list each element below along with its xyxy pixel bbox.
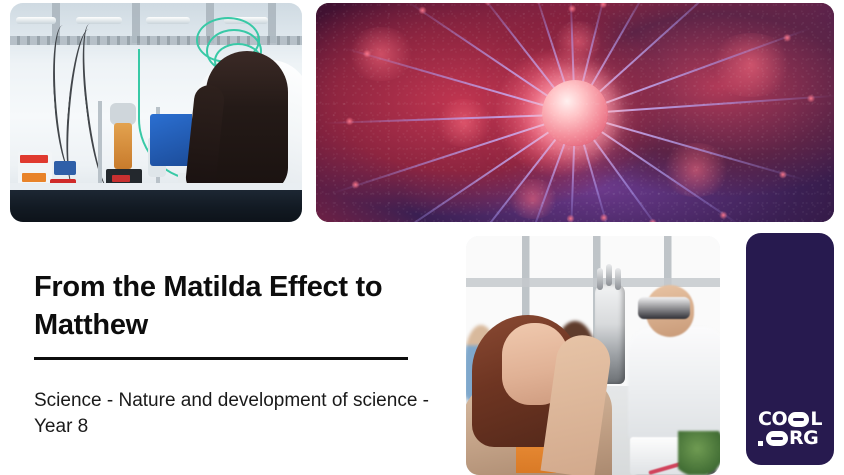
page-title: From the Matilda Effect to Matthew: [34, 268, 446, 344]
robot-finger: [615, 268, 621, 290]
image-robotic-hand: [466, 236, 720, 475]
logo-line-org: RG: [758, 430, 822, 447]
logo-pill-icon: [788, 412, 809, 427]
window-mullion: [466, 278, 720, 287]
researcher-hair: [206, 51, 288, 193]
logo-line-cool: CO L: [758, 411, 822, 428]
bench-front: [10, 190, 302, 222]
title-divider: [34, 357, 408, 360]
background-man-shirt: [628, 327, 720, 439]
heating-element: [114, 123, 132, 169]
ceiling-light: [76, 17, 122, 24]
robot-finger: [606, 264, 612, 286]
logo-org-suffix: RG: [789, 430, 818, 447]
logo-pill-icon: [766, 431, 788, 446]
logo-cool-prefix: CO: [758, 411, 787, 428]
bench-surface: [10, 183, 302, 190]
image-laboratory: [10, 3, 302, 222]
bottle-label: [20, 155, 48, 163]
logo-cool-suffix: L: [810, 411, 822, 428]
slide-canvas: CO L RG From the Matilda Effect to Matth…: [0, 0, 844, 475]
hotplate-display: [112, 175, 130, 182]
ceiling-light: [146, 17, 190, 24]
brand-panel: CO L RG: [746, 233, 834, 465]
film-grain: [316, 3, 834, 222]
text-block: From the Matilda Effect to Matthew Scien…: [34, 268, 446, 440]
logo-dot-icon: [758, 441, 763, 446]
retort-stand: [98, 101, 102, 185]
robot-finger: [597, 268, 603, 290]
glassware: [110, 103, 136, 125]
cool-org-logo: CO L RG: [758, 411, 822, 447]
plant: [678, 431, 720, 475]
ceiling-light: [16, 17, 56, 24]
vr-headset: [638, 297, 690, 319]
image-plasma-neuron: [316, 3, 834, 222]
bottle-label: [22, 173, 46, 182]
equipment-box: [54, 161, 76, 175]
page-subtitle: Science - Nature and development of scie…: [34, 388, 446, 440]
